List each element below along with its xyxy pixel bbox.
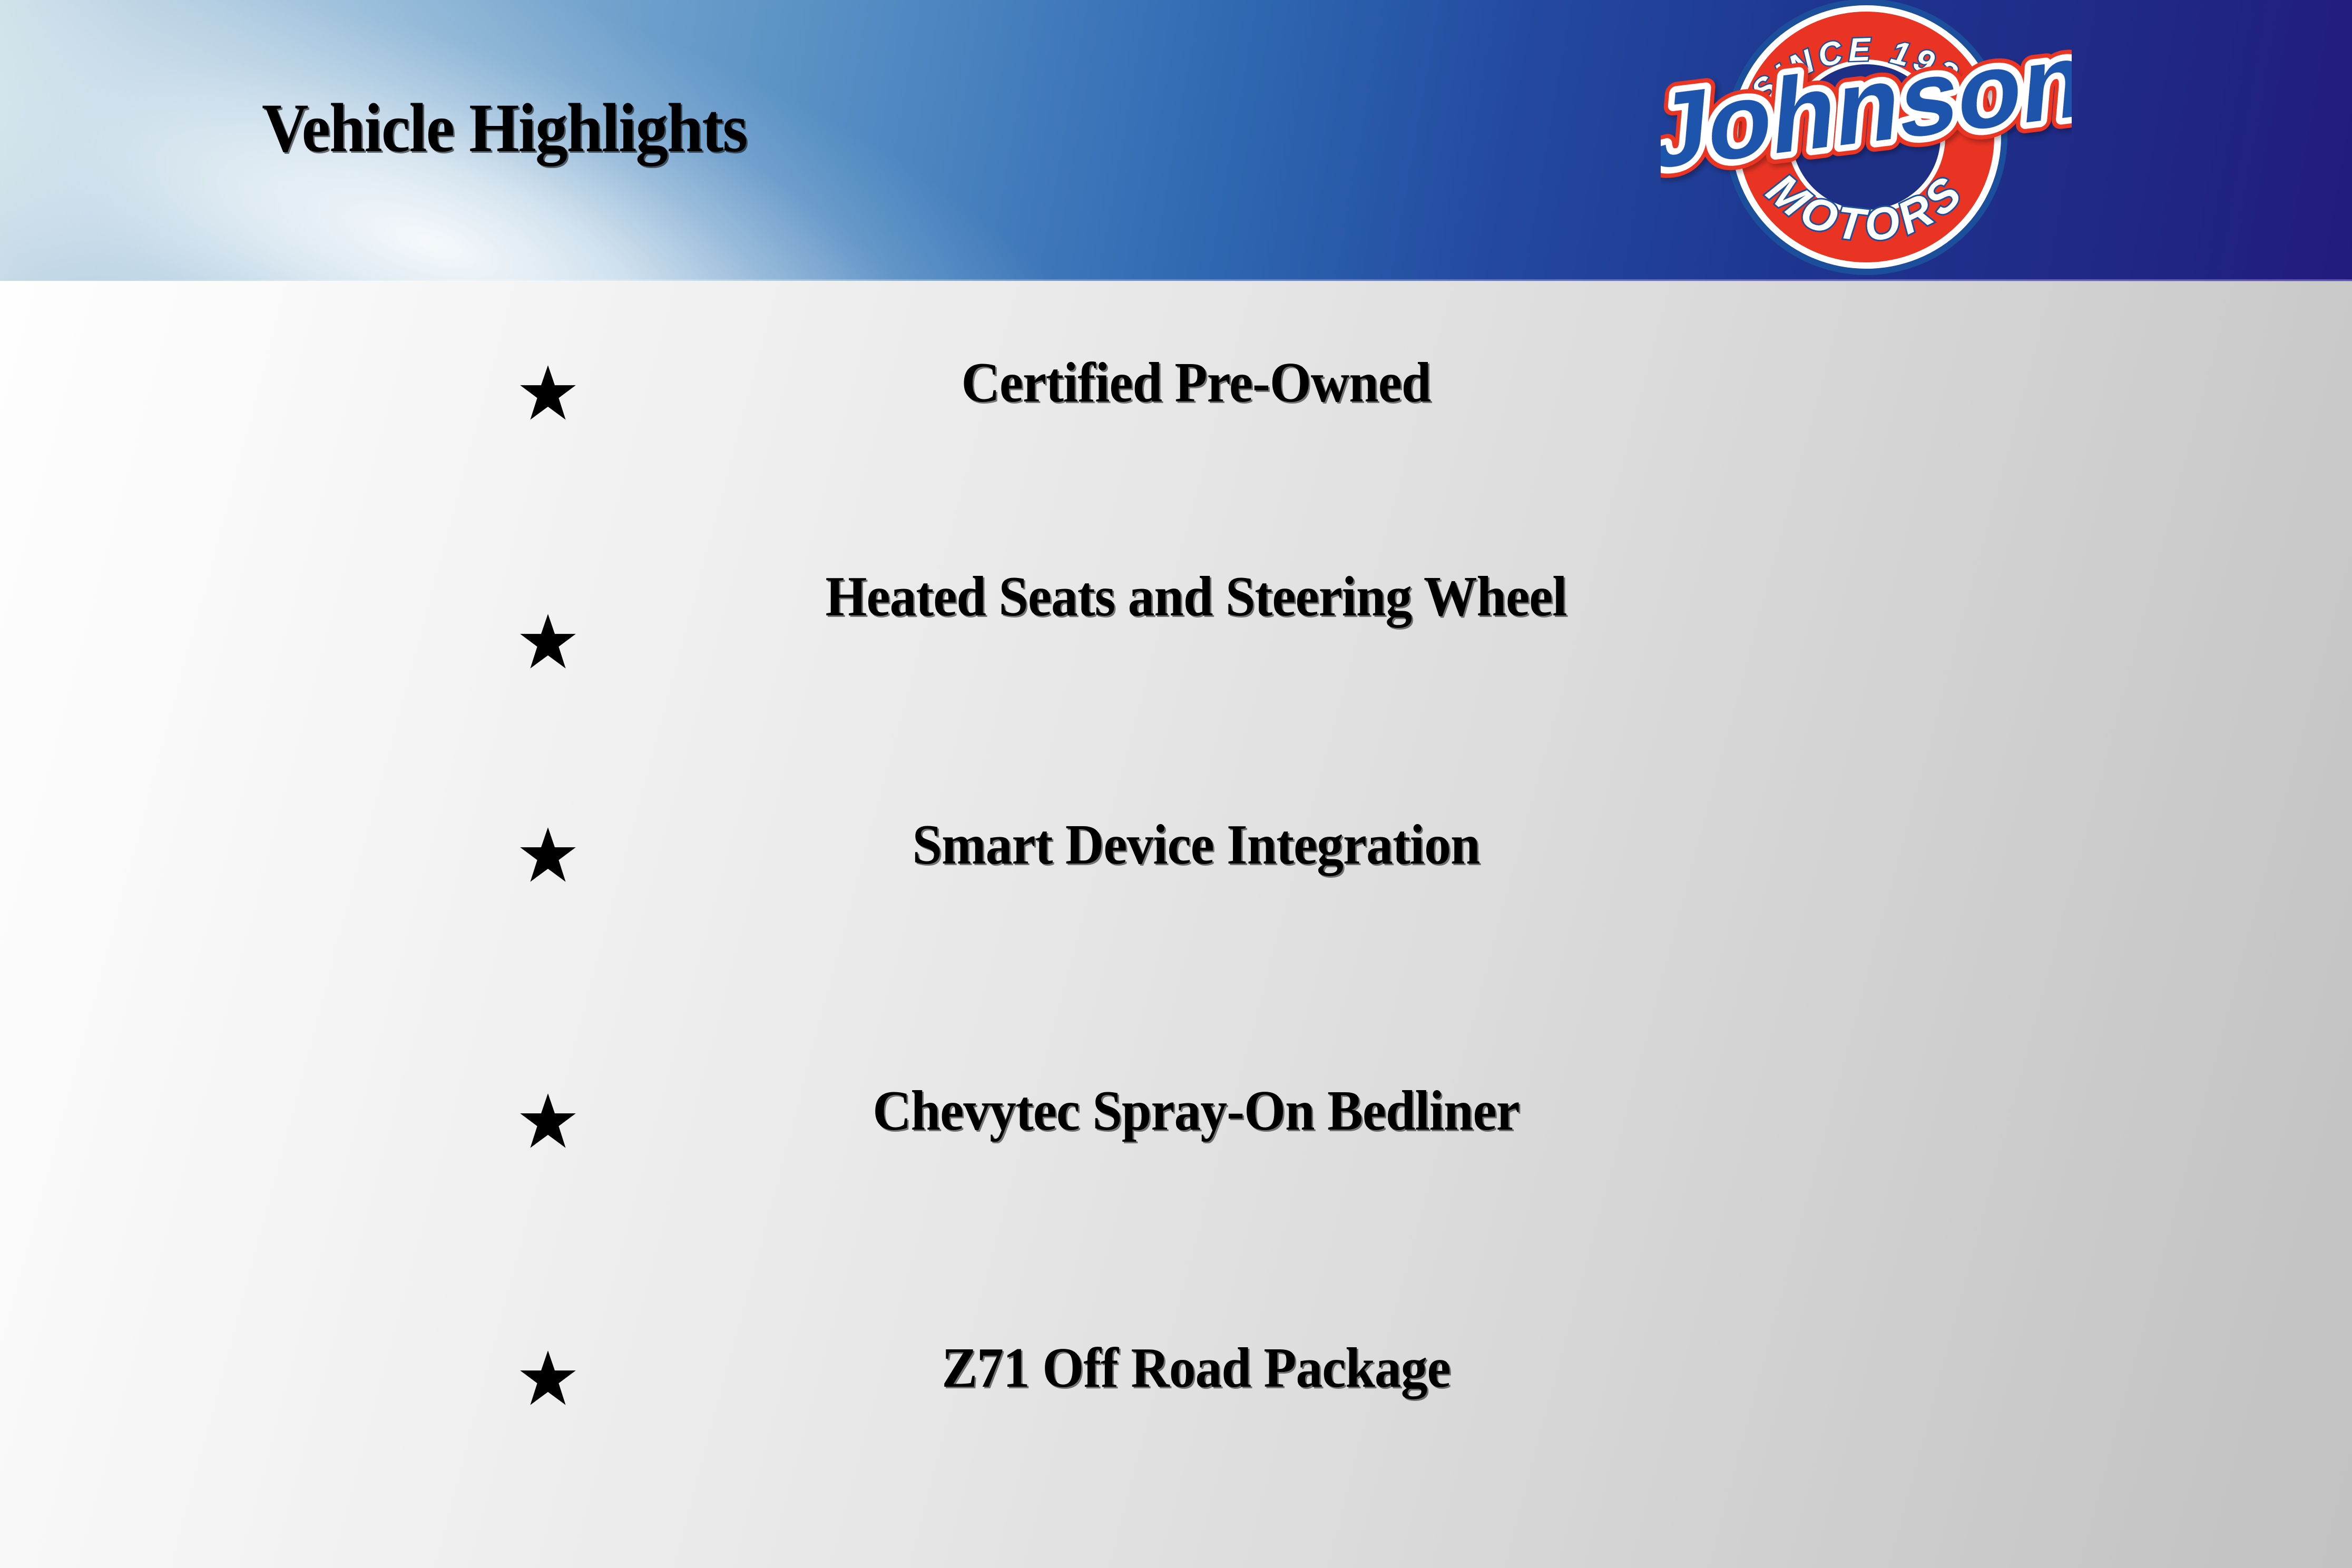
star-icon bbox=[519, 1349, 577, 1407]
list-item: Chevytec Spray-On Bedliner bbox=[0, 1066, 2352, 1177]
page-title: Vehicle Highlights bbox=[262, 89, 747, 168]
list-item-label: Z71 Off Road Package bbox=[730, 1335, 1661, 1402]
vehicle-highlights-list: Certified Pre-Owned Heated Seats and Ste… bbox=[0, 281, 2352, 1568]
star-icon bbox=[519, 613, 577, 671]
vehicle-highlights-slide: Vehicle Highlights SINCE 1925 bbox=[0, 0, 2352, 1568]
star-icon bbox=[519, 826, 577, 884]
list-item-label: Certified Pre-Owned bbox=[730, 349, 1661, 417]
johnson-motors-logo: SINCE 1925 MOTORS Johnson Johnson Johnso… bbox=[1661, 0, 2072, 290]
list-item: Heated Seats and Steering Wheel bbox=[0, 555, 2352, 729]
star-icon bbox=[519, 1092, 577, 1150]
list-item-label: Chevytec Spray-On Bedliner bbox=[730, 1077, 1661, 1145]
list-item: Smart Device Integration bbox=[0, 800, 2352, 910]
list-item-label: Smart Device Integration bbox=[730, 811, 1661, 879]
list-item: Z71 Off Road Package bbox=[0, 1323, 2352, 1434]
list-item: Certified Pre-Owned bbox=[0, 338, 2352, 448]
star-icon bbox=[519, 364, 577, 422]
list-item-label: Heated Seats and Steering Wheel bbox=[730, 563, 1661, 631]
